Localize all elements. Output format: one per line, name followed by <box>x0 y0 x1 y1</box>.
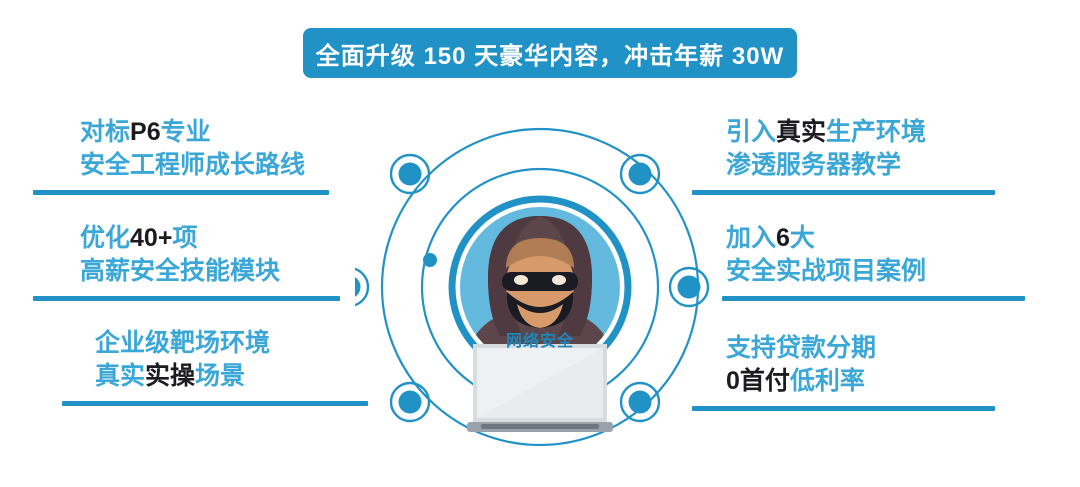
network-node <box>621 155 659 193</box>
laptop-keyboard-strip <box>481 424 599 429</box>
normal-text: 项 <box>172 224 197 252</box>
feature-left-1: 对标P6专业 安全工程师成长路线 <box>80 116 376 195</box>
feature-right-1: 引入真实生产环境 渗透服务器教学 <box>726 116 1026 195</box>
normal-text: 低利率 <box>790 367 865 395</box>
normal-text: 引入 <box>726 118 776 146</box>
hacker-network-illustration: 网络安全 <box>355 108 725 466</box>
network-node <box>670 268 708 306</box>
feature-left-1-divider <box>33 190 329 195</box>
network-rings-graphic <box>355 108 725 466</box>
normal-text: 安全工程师成长路线 <box>80 151 305 179</box>
feature-right-3-line1: 支持贷款分期 <box>726 332 1026 364</box>
emphasis-text: P6 <box>130 118 161 146</box>
feature-left-2-line1: 优化40+项 <box>80 222 376 254</box>
normal-text: 生产环境 <box>826 118 926 146</box>
feature-left-3: 企业级靶场环境 真实实操场景 <box>95 327 385 406</box>
emphasis-text: 真实 <box>776 118 826 146</box>
feature-right-3: 支持贷款分期 0首付低利率 <box>726 332 1026 411</box>
feature-right-2-divider <box>722 296 1025 301</box>
feature-left-3-line1: 企业级靶场环境 <box>95 327 385 359</box>
normal-text: 加入 <box>726 224 776 252</box>
network-node <box>355 268 368 306</box>
headline-banner: 全面升级 150 天豪华内容，冲击年薪 30W <box>303 28 797 78</box>
feature-right-1-line2: 渗透服务器教学 <box>726 149 1026 181</box>
hacker-eye-right <box>552 275 566 285</box>
feature-left-1-line2: 安全工程师成长路线 <box>80 149 376 181</box>
normal-text: 真实 <box>95 362 145 390</box>
normal-text: 企业级靶场环境 <box>95 329 270 357</box>
normal-text: 安全实战项目案例 <box>726 257 926 285</box>
feature-right-1-divider <box>692 190 995 195</box>
feature-left-1-line1: 对标P6专业 <box>80 116 376 148</box>
feature-left-2-divider <box>33 296 340 301</box>
hacker-eye-left <box>514 275 528 285</box>
infographic-root: 全面升级 150 天豪华内容，冲击年薪 30W 对标P6专业 安全工程师成长路线… <box>0 0 1080 487</box>
emphasis-text: 40+ <box>130 224 172 252</box>
orbit-dot-left <box>423 253 437 267</box>
normal-text: 场景 <box>195 362 245 390</box>
feature-right-3-line2: 0首付低利率 <box>726 365 1026 397</box>
emphasis-text: 6 <box>776 224 790 252</box>
laptop <box>467 344 613 432</box>
normal-text: 优化 <box>80 224 130 252</box>
headline-banner-text: 全面升级 150 天豪华内容，冲击年薪 30W <box>316 36 784 71</box>
emphasis-text: 0首付 <box>726 367 790 395</box>
normal-text: 高薪安全技能模块 <box>80 257 280 285</box>
emphasis-text: 实操 <box>145 362 195 390</box>
normal-text: 渗透服务器教学 <box>726 151 901 179</box>
feature-right-1-line1: 引入真实生产环境 <box>726 116 1026 148</box>
network-node <box>621 383 659 421</box>
feature-right-2-line2: 安全实战项目案例 <box>726 255 1026 287</box>
network-node <box>391 383 429 421</box>
feature-left-3-divider <box>62 401 368 406</box>
feature-right-3-divider <box>692 406 995 411</box>
feature-left-2: 优化40+项 高薪安全技能模块 <box>80 222 376 301</box>
normal-text: 对标 <box>80 118 130 146</box>
hacker-eye-mask <box>502 272 578 291</box>
normal-text: 大 <box>790 224 815 252</box>
feature-left-3-line2: 真实实操场景 <box>95 360 385 392</box>
feature-left-2-line2: 高薪安全技能模块 <box>80 255 376 287</box>
network-node <box>391 155 429 193</box>
feature-right-2: 加入6大 安全实战项目案例 <box>726 222 1026 301</box>
normal-text: 支持贷款分期 <box>726 334 876 362</box>
feature-right-2-line1: 加入6大 <box>726 222 1026 254</box>
normal-text: 专业 <box>161 118 211 146</box>
